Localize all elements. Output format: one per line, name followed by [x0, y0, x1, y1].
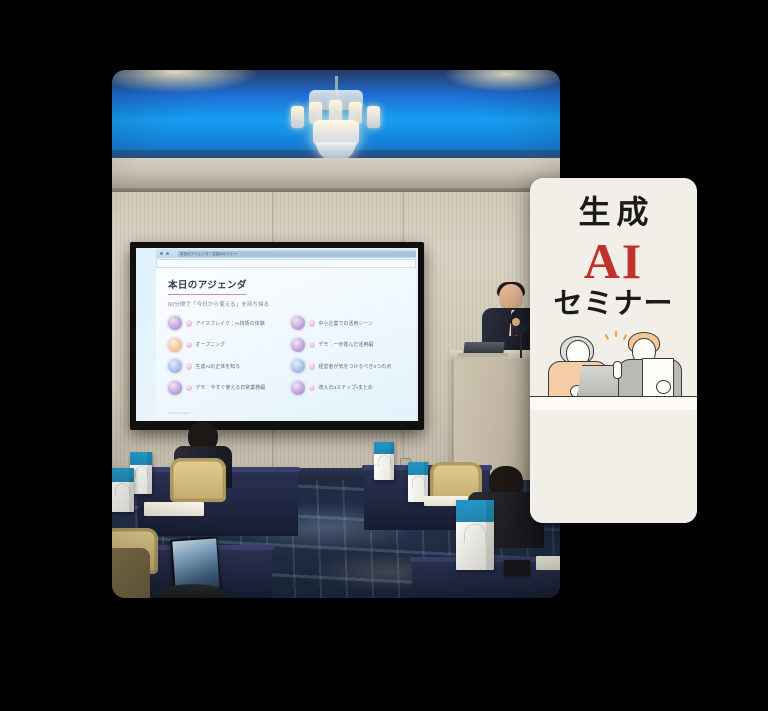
agenda-column-left: アイスブレイク：AI技術の体験 オープニング 生成AIの正体を知る — [168, 316, 283, 395]
agenda-item-label: デモ：今すぐ使える日常業務編 — [196, 384, 266, 391]
microphone-stand — [520, 332, 522, 358]
agenda-orb-icon — [291, 381, 305, 395]
slide-footer: 2025 © seminar.inc — [168, 412, 190, 415]
agenda-item: デモ：今すぐ使える日常業務編 — [168, 381, 283, 395]
title-card: 生成 AI セミナー — [530, 178, 697, 523]
podium-laptop — [463, 342, 504, 354]
agenda-orb-icon — [291, 338, 305, 352]
browser-back-icon — [160, 252, 163, 255]
agenda-number-badge — [186, 363, 193, 370]
chandelier-icon — [271, 76, 401, 168]
slide-subtitle: 60分間で「今日から使える」を持ち帰る — [168, 300, 406, 308]
smartphone[interactable] — [504, 560, 530, 576]
agenda-item-label: アイスブレイク：AI技術の体験 — [196, 320, 265, 327]
agenda-item: 導入の3ステップ・まとめ — [291, 381, 406, 395]
browser-toolbar: 本日のアジェンダ｜生成AIセミナー — [156, 249, 416, 258]
agenda-item: デモ：一歩進んだ活用編 — [291, 338, 406, 352]
attendee-front-left — [112, 540, 150, 598]
agenda-item: アイスブレイク：AI技術の体験 — [168, 316, 283, 330]
browser-address-bar — [156, 259, 416, 268]
spark-icon — [623, 334, 627, 340]
agenda-item-label: 中小企業での活用シーン — [319, 320, 374, 327]
agenda-item-label: デモ：一歩進んだ活用編 — [319, 341, 374, 348]
agenda-column-right: 中小企業での活用シーン デモ：一歩進んだ活用編 経営者が気をつけるべき3つの点 — [291, 316, 406, 395]
agenda-item-label: 経営者が気をつけるべき3つの点 — [319, 363, 392, 370]
card-title-line2: AI — [530, 236, 697, 286]
tablet-stand — [160, 584, 226, 598]
agenda-orb-icon — [168, 359, 182, 373]
projection-screen: 本日のアジェンダ｜生成AIセミナー 本日のアジェンダ 60分間で「今日から使える… — [130, 242, 424, 430]
document-sheet — [536, 556, 560, 570]
projected-slide: 本日のアジェンダ｜生成AIセミナー 本日のアジェンダ 60分間で「今日から使える… — [136, 248, 418, 421]
desk-illustration — [530, 396, 697, 410]
agenda-number-badge — [186, 385, 193, 392]
agenda-item: 経営者が気をつけるべき3つの点 — [291, 359, 406, 373]
agenda-number-badge — [309, 363, 316, 370]
agenda-item-label: 生成AIの正体を知る — [196, 363, 241, 370]
attendee-body — [112, 548, 150, 598]
agenda-item: 中小企業での活用シーン — [291, 316, 406, 330]
card-title-line3: セミナー — [530, 290, 697, 319]
agenda-orb-icon — [168, 316, 182, 330]
document-sheet — [144, 502, 204, 516]
speaker-hand — [512, 318, 520, 326]
agenda-number-badge — [309, 385, 316, 392]
card-title-line1: 生成 — [530, 196, 697, 228]
browser-forward-icon — [166, 252, 169, 255]
agenda-item-label: オープニング — [196, 341, 226, 348]
screenshot-stage: 本日のアジェンダ｜生成AIセミナー 本日のアジェンダ 60分間で「今日から使える… — [0, 0, 768, 711]
card-illustration — [530, 328, 697, 410]
slide-title-rule — [168, 294, 246, 295]
slide-content: 本日のアジェンダ 60分間で「今日から使える」を持ち帰る アイスブレイク：AI技… — [156, 268, 416, 419]
agenda-item: オープニング — [168, 338, 283, 352]
spark-icon — [605, 334, 609, 340]
browser-tab-title: 本日のアジェンダ｜生成AIセミナー — [178, 251, 416, 257]
agenda-orb-icon — [168, 381, 182, 395]
speaker-head — [499, 284, 523, 311]
agenda-columns: アイスブレイク：AI技術の体験 オープニング 生成AIの正体を知る — [168, 316, 406, 395]
card-blank-area — [530, 410, 697, 523]
agenda-item: 生成AIの正体を知る — [168, 359, 283, 373]
gift-bag — [374, 442, 394, 480]
agenda-orb-icon — [291, 359, 305, 373]
agenda-orb-icon — [291, 316, 305, 330]
agenda-number-badge — [186, 342, 193, 349]
agenda-orb-icon — [168, 338, 182, 352]
gift-bag — [112, 468, 134, 512]
agenda-number-badge — [186, 320, 193, 327]
seminar-photo: 本日のアジェンダ｜生成AIセミナー 本日のアジェンダ 60分間で「今日から使える… — [112, 70, 560, 598]
slide-title: 本日のアジェンダ — [168, 277, 406, 291]
agenda-number-badge — [309, 320, 316, 327]
person-right-hand — [656, 380, 671, 394]
agenda-item-label: 導入の3ステップ・まとめ — [319, 384, 374, 391]
banquet-chair — [170, 458, 226, 502]
pointing-finger — [613, 361, 622, 379]
spark-icon — [615, 331, 617, 337]
gift-bag — [456, 500, 494, 570]
agenda-number-badge — [309, 342, 316, 349]
ceiling-soffit — [112, 158, 560, 192]
